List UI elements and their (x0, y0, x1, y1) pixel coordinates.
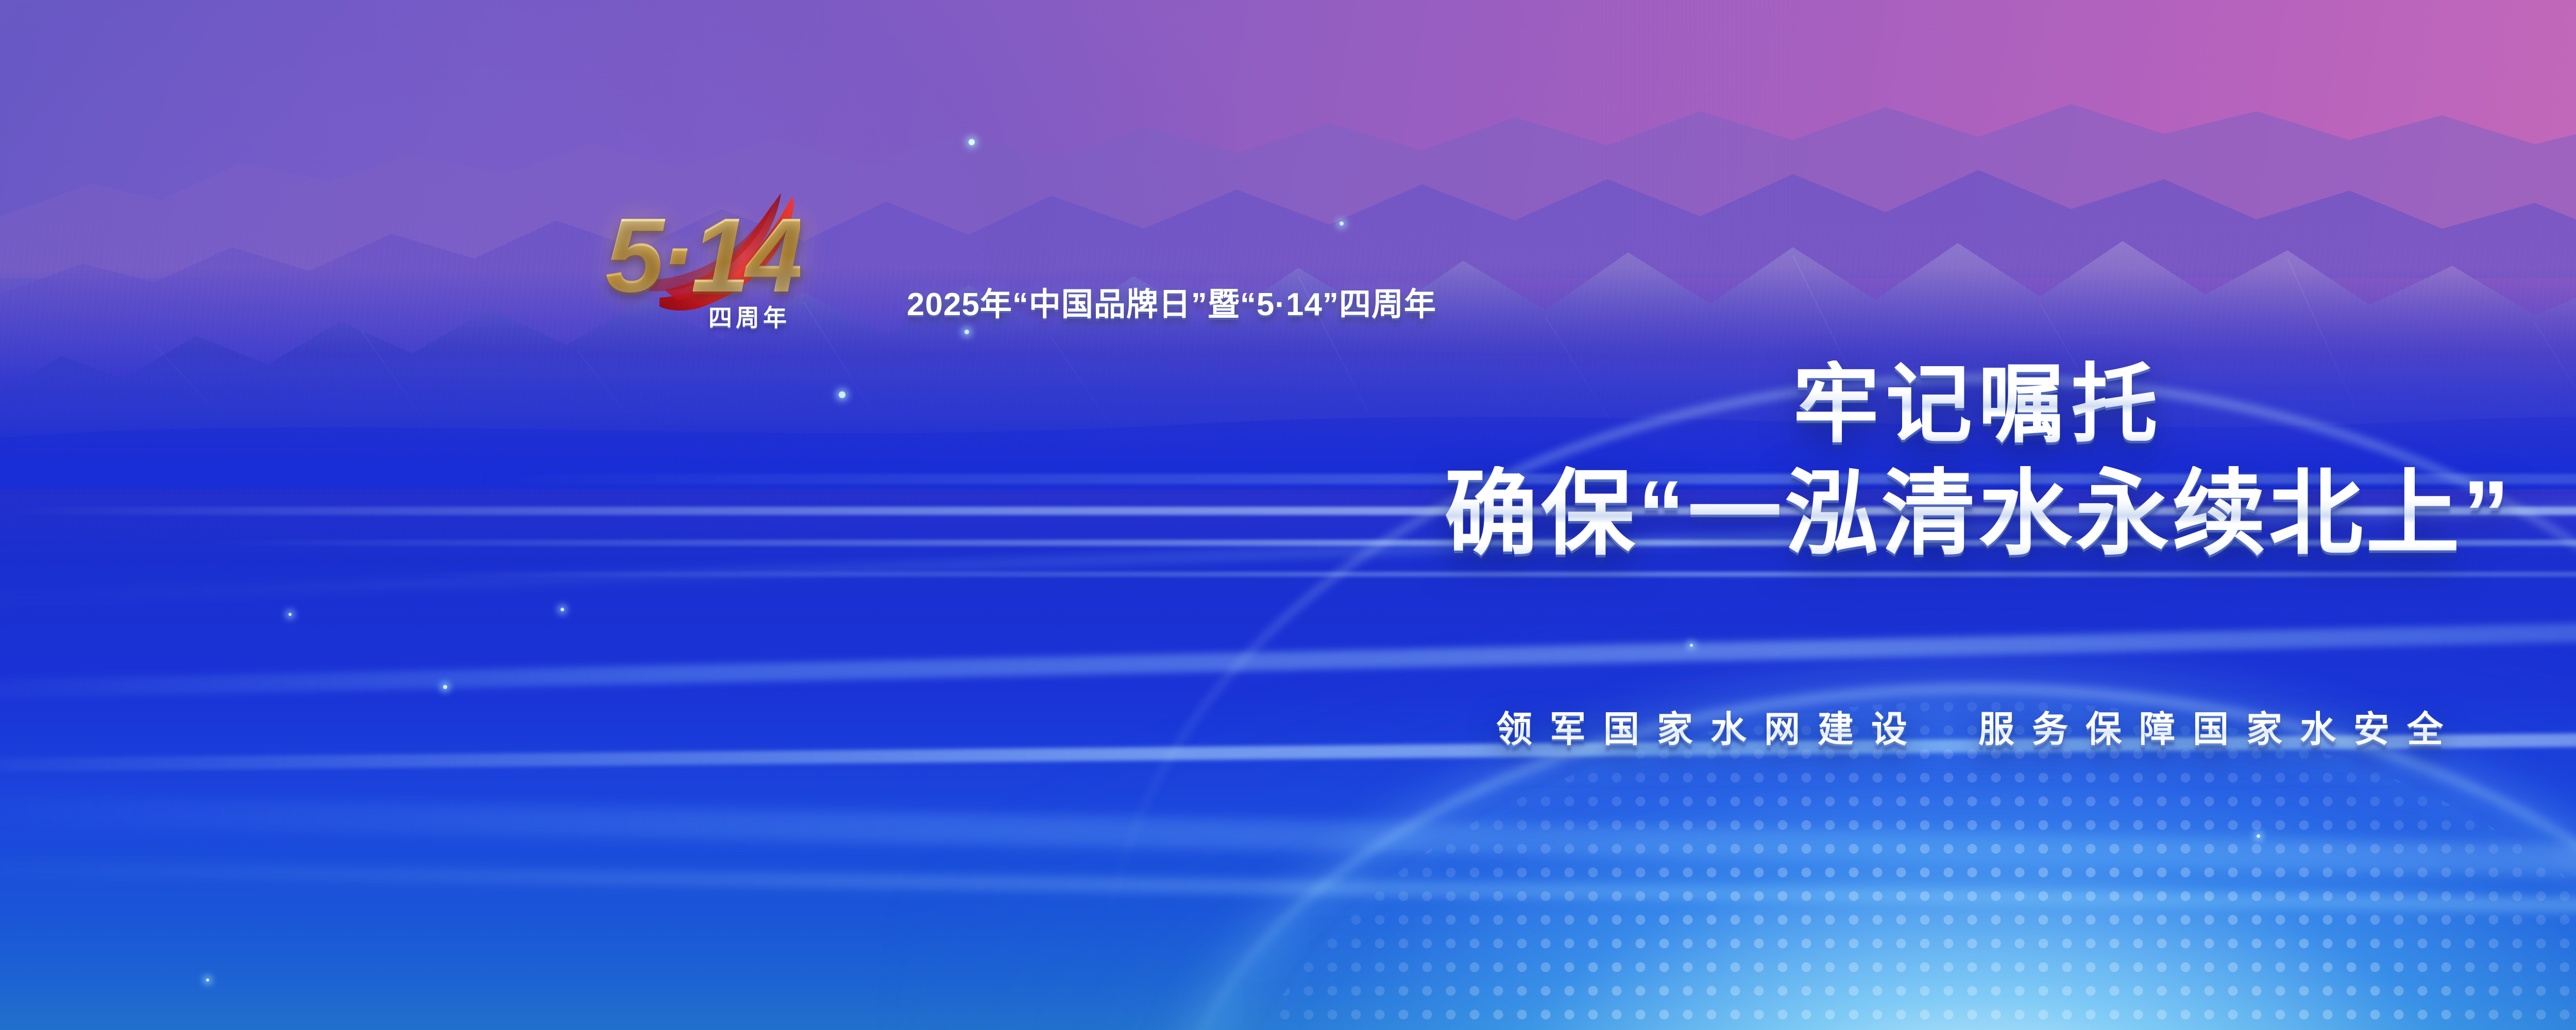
headline-block: 牢记嘱托 确保“一泓清水永续北上” (0, 360, 2576, 562)
sub-headline: 领军国家水网建设 服务保障国家水安全 (0, 700, 2576, 752)
anniversary-logo: 5·14 四周年 (605, 198, 832, 337)
banner-stage: 5·14 四周年 2025年“中国品牌日”暨“5·14”四周年 (0, 0, 2576, 1030)
event-title: 2025年“中国品牌日”暨“5·14”四周年 (907, 278, 1436, 324)
headline-line-1: 牢记嘱托 (0, 360, 2576, 449)
anniversary-label: 四周年 (708, 299, 790, 333)
banner-content: 5·14 四周年 2025年“中国品牌日”暨“5·14”四周年 (0, 0, 2576, 1030)
anniversary-number: 5·14 (605, 202, 800, 308)
headline-line-2: 确保“一泓清水永续北上” (0, 466, 2576, 562)
